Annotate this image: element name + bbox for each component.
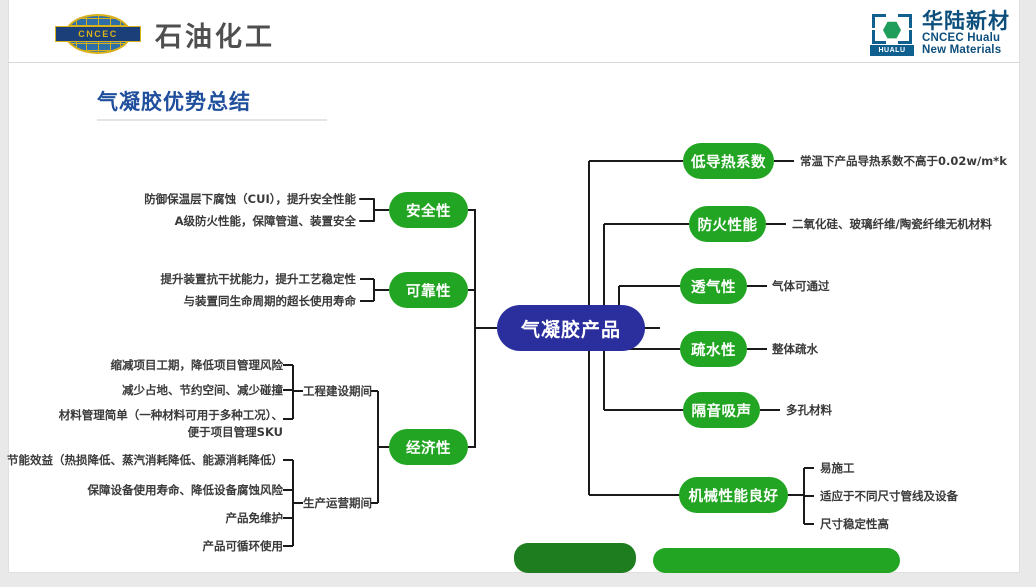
leaf-text: 缩减项目工期，降低项目管理风险 — [111, 357, 284, 374]
cut-off-shape-bright — [653, 548, 900, 573]
subgroup-label-operation: 生产运营期间 — [303, 495, 372, 511]
leaf-text: 便于项目管理SKU — [188, 424, 283, 441]
subgroup-label-construction: 工程建设期间 — [303, 383, 372, 399]
leaf-text: 适应于不同尺寸管线及设备 — [820, 488, 958, 505]
leaf-text: 与装置同生命周期的超长使用寿命 — [184, 293, 357, 310]
leaf-text: 保障设备使用寿命、降低设备腐蚀风险 — [88, 482, 284, 499]
leaf-text: 尺寸稳定性高 — [820, 516, 889, 533]
leaf-text: 产品可循环使用 — [203, 538, 284, 555]
branch-node-safety[interactable]: 安全性 — [389, 192, 468, 228]
leaf-text: 提升装置抗干扰能力，提升工艺稳定性 — [161, 271, 357, 288]
leaf-text: 常温下产品导热系数不高于0.02w/m*k — [800, 153, 1007, 170]
leaf-text: 易施工 — [820, 460, 855, 477]
leaf-text: 材料管理简单（一种材料可用于多种工况）、 — [59, 407, 283, 424]
leaf-text: 减少占地、节约空间、减少碰撞 — [122, 382, 283, 399]
branch-node-fireproof[interactable]: 防火性能 — [689, 206, 766, 242]
cut-off-shape-dark — [514, 543, 636, 573]
leaf-text: A级防火性能，保障管道、装置安全 — [175, 213, 356, 230]
leaf-text: 节能效益（热损降低、蒸汽消耗降低、能源消耗降低） — [7, 452, 283, 469]
leaf-text: 二氧化硅、玻璃纤维/陶瓷纤维无机材料 — [792, 216, 992, 233]
center-node[interactable]: 气凝胶产品 — [497, 305, 645, 351]
branch-node-hydrophobic[interactable]: 疏水性 — [680, 331, 747, 367]
mindmap: 气凝胶产品 安全性 可靠性 经济性 防御保温层下腐蚀（CUI），提升安全性能 A… — [0, 0, 1036, 587]
slide-page: CNCEC 石油化工 HUALU 华陆新材 CNCEC Hualu New Ma… — [0, 0, 1036, 587]
branch-node-reliability[interactable]: 可靠性 — [389, 272, 468, 308]
leaf-text: 产品免维护 — [226, 510, 284, 527]
leaf-text: 防御保温层下腐蚀（CUI），提升安全性能 — [144, 191, 356, 208]
leaf-text: 气体可通过 — [772, 278, 830, 295]
leaf-text: 多孔材料 — [786, 402, 832, 419]
branch-node-breathable[interactable]: 透气性 — [680, 268, 747, 304]
branch-node-economy[interactable]: 经济性 — [389, 429, 468, 465]
leaf-text: 整体疏水 — [772, 341, 818, 358]
branch-node-low-conductivity[interactable]: 低导热系数 — [683, 143, 774, 179]
branch-node-mechanical[interactable]: 机械性能良好 — [679, 477, 788, 513]
branch-node-soundproof[interactable]: 隔音吸声 — [683, 392, 760, 428]
